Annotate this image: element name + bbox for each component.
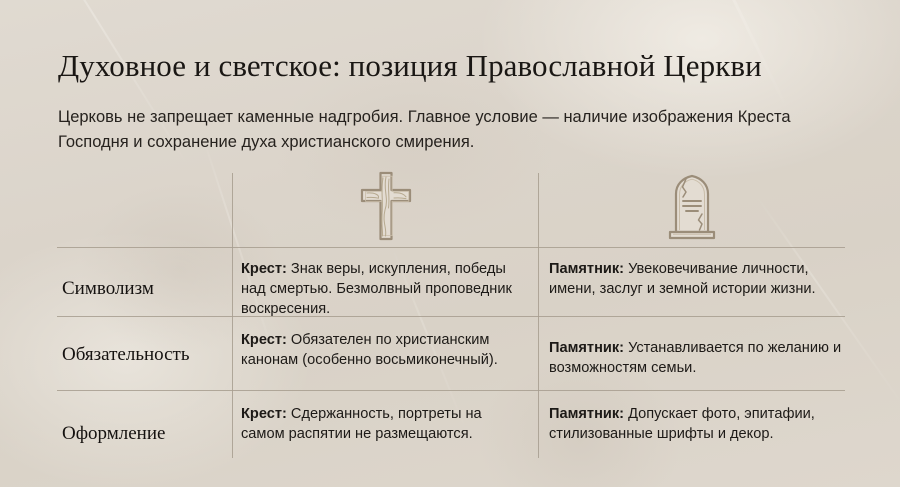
- page-subtitle: Церковь не запрещает каменные надгробия.…: [58, 105, 858, 155]
- table-rule: [57, 390, 845, 391]
- cell-monument-oformlenie: Памятник: Допускает фото, эпитафии, стил…: [549, 404, 843, 444]
- cell-lead: Крест:: [241, 261, 287, 277]
- cell-cross-simvolizm: Крест: Знак веры, искупления, победы над…: [241, 259, 529, 319]
- cross-icon: [358, 170, 414, 242]
- cell-lead: Памятник:: [549, 406, 624, 422]
- row-label-oformlenie: Оформление: [62, 423, 227, 445]
- column-header-cross: [233, 170, 538, 242]
- table-rule: [57, 247, 845, 248]
- row-label-obyazatelnost: Обязательность: [62, 344, 227, 366]
- page-title: Духовное и светское: позиция Православно…: [58, 47, 762, 85]
- cell-lead: Памятник:: [549, 340, 624, 356]
- slide-canvas: Духовное и светское: позиция Православно…: [0, 0, 900, 487]
- tombstone-icon: [656, 170, 728, 242]
- column-header-monument: [539, 170, 845, 242]
- cell-lead: Крест:: [241, 406, 287, 422]
- cell-cross-oformlenie: Крест: Сдержанность, портреты на самом р…: [241, 404, 529, 444]
- cell-lead: Крест:: [241, 332, 287, 348]
- cell-cross-obyazatelnost: Крест: Обязателен по христианским канона…: [241, 330, 529, 370]
- row-label-simvolizm: Символизм: [62, 278, 227, 300]
- cell-monument-simvolizm: Памятник: Увековечивание личности, имени…: [549, 259, 843, 299]
- cell-lead: Памятник:: [549, 261, 624, 277]
- cell-monument-obyazatelnost: Памятник: Устанавливается по желанию и в…: [549, 338, 843, 378]
